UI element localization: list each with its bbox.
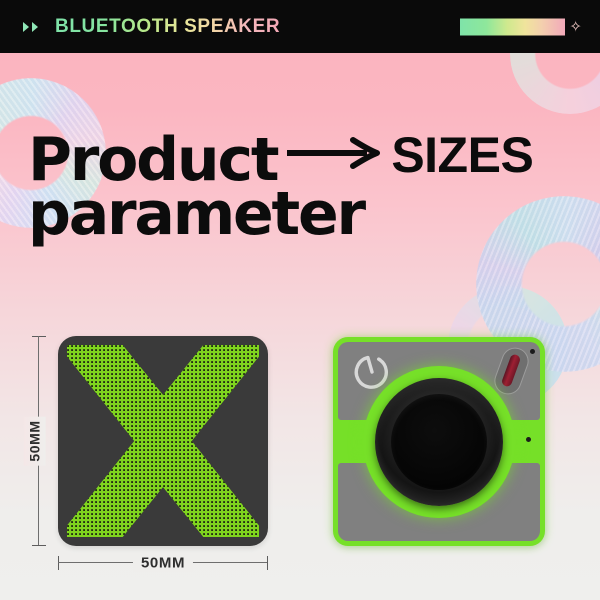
speaker-driver-surround — [375, 378, 503, 506]
dimension-width-label: 50MM — [133, 555, 193, 572]
indicator-dot — [530, 349, 535, 354]
title-line-2: parameter — [28, 184, 584, 244]
sparkle-icon: ✧ — [569, 19, 582, 34]
dimension-width: 50MM — [58, 556, 268, 570]
dimension-cap-right — [267, 556, 268, 570]
page-title: Product SIZES parameter — [28, 132, 584, 244]
top-banner: BLUETOOTH SPEAKER ✧ — [0, 0, 600, 53]
poster-canvas: BLUETOOTH SPEAKER ✧ Product SIZES parame… — [0, 0, 600, 600]
diagonal-stripes-icon — [460, 18, 565, 35]
dimension-height: 50MM — [32, 336, 46, 546]
banner-title: BLUETOOTH SPEAKER — [55, 16, 280, 38]
speaker-driver-ring — [363, 366, 515, 518]
speaker-driver-view — [333, 337, 545, 546]
dimension-cap-bottom — [32, 545, 46, 546]
dimension-height-label: 50MM — [24, 416, 46, 465]
banner-decoration: ✧ — [460, 18, 582, 35]
double-chevron-right-icon — [22, 21, 44, 33]
microphone-dot — [526, 437, 531, 442]
speaker-driver-cone — [391, 394, 487, 490]
speaker-front-view — [58, 336, 268, 546]
long-right-arrow-icon — [285, 136, 381, 175]
title-word-sizes: SIZES — [391, 126, 533, 184]
slider-switch[interactable] — [498, 347, 525, 395]
